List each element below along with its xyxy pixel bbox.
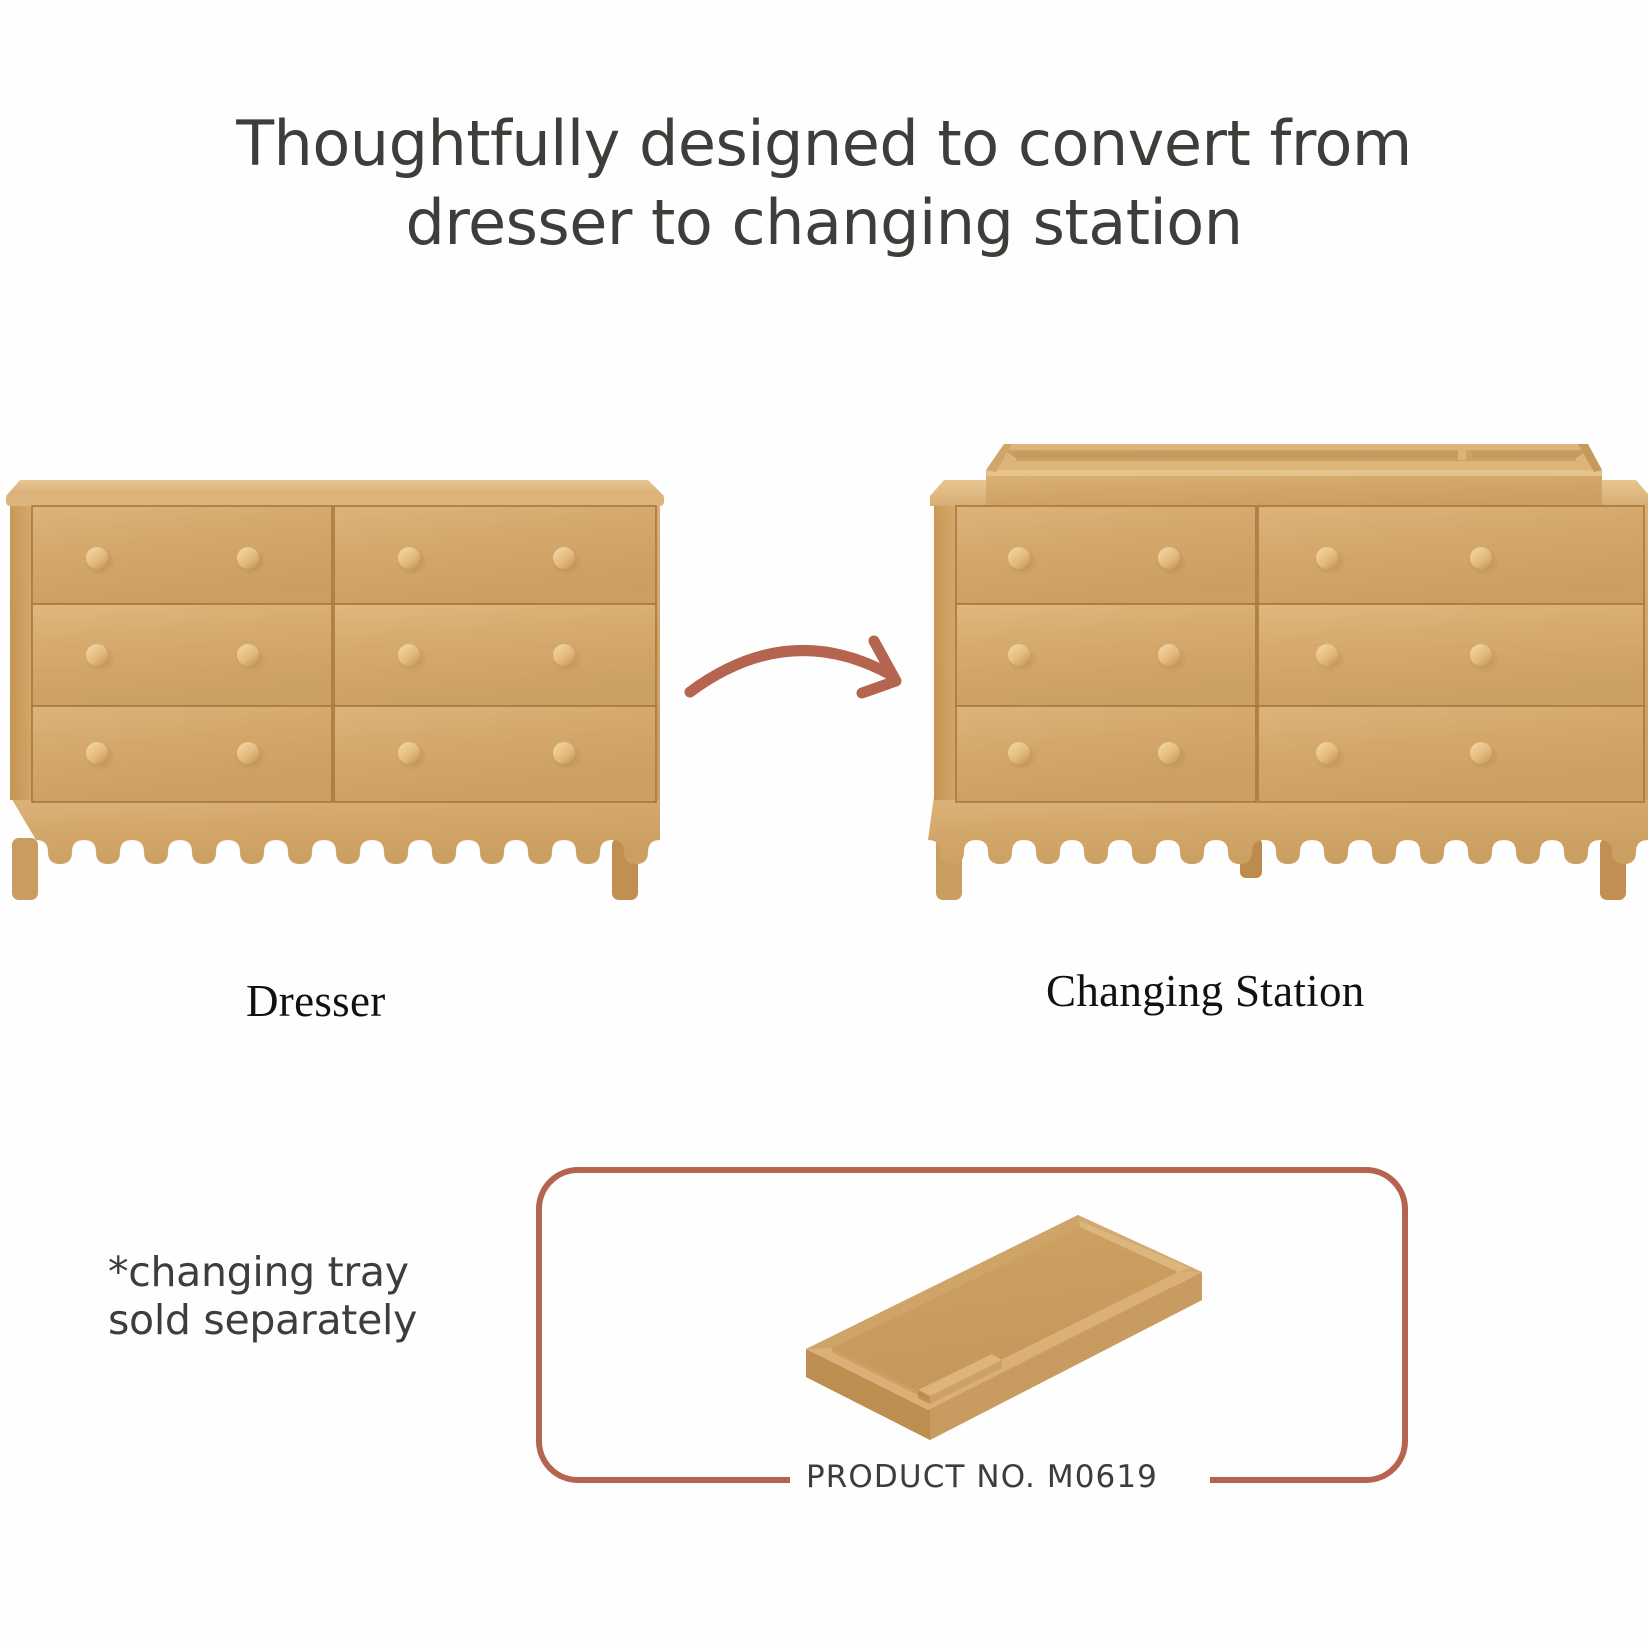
caption-dresser: Dresser xyxy=(246,975,386,1027)
convert-arrow xyxy=(690,641,896,693)
product-number-label: PRODUCT NO. M0619 xyxy=(806,1459,1158,1495)
product-callout-box xyxy=(536,1167,1408,1483)
dresser-illustration xyxy=(6,480,664,900)
changing-station-drawers xyxy=(956,506,1644,802)
footnote-line-1: *changing tray xyxy=(108,1248,417,1296)
dresser-knobs xyxy=(84,547,583,771)
footnote-line-2: sold separately xyxy=(108,1296,417,1344)
changing-station-illustration xyxy=(928,444,1648,900)
dresser-drawers xyxy=(32,506,656,802)
page-title-line-2: dresser to changing station xyxy=(0,183,1648,262)
changing-tray-footnote: *changing tray sold separately xyxy=(108,1248,417,1345)
caption-changing-station: Changing Station xyxy=(1046,965,1365,1017)
page-title-line-1: Thoughtfully designed to convert from xyxy=(0,104,1648,183)
changing-station-knobs xyxy=(1006,547,1500,771)
mounted-changing-tray xyxy=(986,444,1602,510)
dresser-scalloped-skirt xyxy=(10,796,660,864)
changing-station-scalloped-skirt xyxy=(928,796,1648,864)
page-title: Thoughtfully designed to convert from dr… xyxy=(0,104,1648,263)
